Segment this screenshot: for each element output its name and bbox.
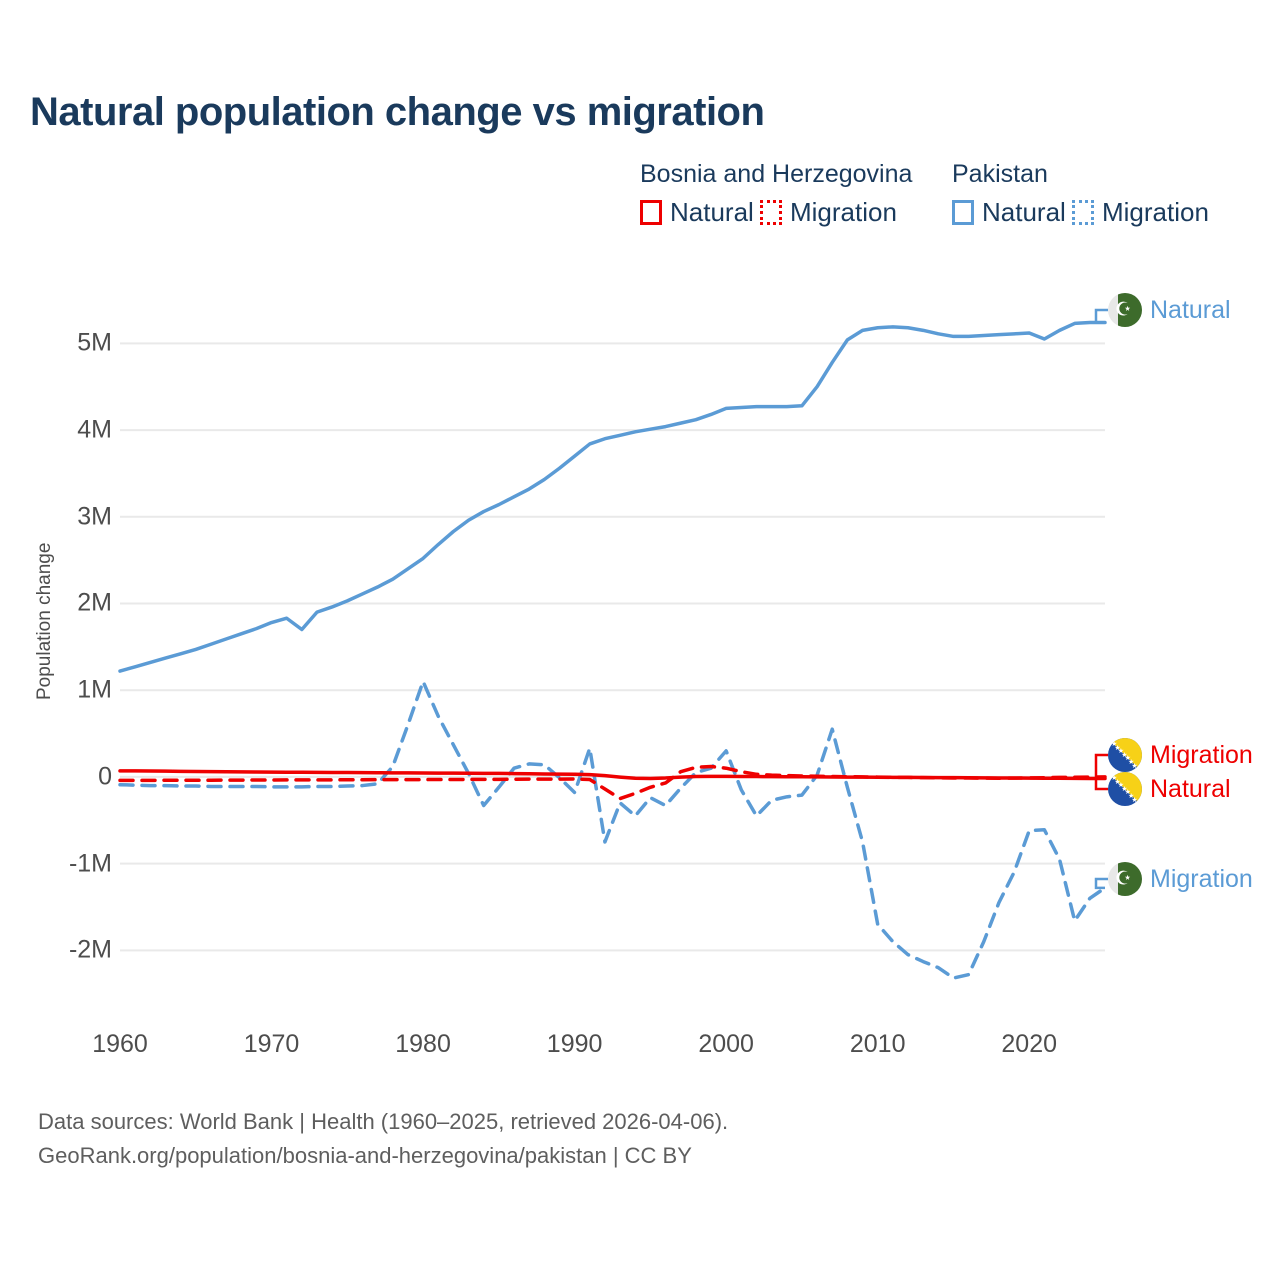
y-axis-ticks: 5M4M3M2M1M0-1M-2M [0, 0, 112, 1280]
y-tick-label: -2M [17, 936, 112, 965]
plot-area [0, 0, 1280, 1280]
footer-line-sources: Data sources: World Bank | Health (1960–… [38, 1105, 728, 1139]
series-line-pakistan-migration [120, 682, 1105, 979]
end-label-leader-line [1096, 310, 1108, 323]
x-tick-label: 1970 [244, 1030, 300, 1059]
end-label-text: Natural [1150, 775, 1231, 804]
end-label-leader-line [1096, 879, 1108, 888]
footer-line-url: GeoRank.org/population/bosnia-and-herzeg… [38, 1139, 728, 1173]
y-tick-label: 2M [17, 589, 112, 618]
end-label-text: Migration [1150, 741, 1253, 770]
end-label-text: Natural [1150, 296, 1231, 325]
x-tick-label: 2010 [850, 1030, 906, 1059]
end-label-bosnia-and-herzegovina-natural[interactable]: ★★★★★★★★Natural [1108, 772, 1231, 806]
y-tick-label: 5M [17, 329, 112, 358]
y-tick-label: 1M [17, 676, 112, 705]
pakistan-flag-icon: ☪ [1108, 862, 1142, 896]
end-label-bosnia-and-herzegovina-migration[interactable]: ★★★★★★★★Migration [1108, 738, 1253, 772]
pakistan-flag-icon: ☪ [1108, 293, 1142, 327]
series-line-pakistan-natural [120, 323, 1105, 672]
bosnia-flag-icon: ★★★★★★★★ [1108, 738, 1142, 772]
bosnia-flag-icon: ★★★★★★★★ [1108, 772, 1142, 806]
x-tick-label: 1990 [547, 1030, 603, 1059]
end-label-text: Migration [1150, 865, 1253, 894]
y-tick-label: -1M [17, 849, 112, 878]
footer-note: Data sources: World Bank | Health (1960–… [38, 1105, 728, 1173]
chart-container: Natural population change vs migration B… [0, 0, 1280, 1280]
end-label-pakistan-migration[interactable]: ☪Migration [1108, 862, 1253, 896]
y-tick-label: 4M [17, 416, 112, 445]
x-tick-label: 1960 [92, 1030, 148, 1059]
y-tick-label: 3M [17, 502, 112, 531]
x-tick-label: 2000 [698, 1030, 754, 1059]
y-tick-label: 0 [17, 762, 112, 791]
x-tick-label: 2020 [1001, 1030, 1057, 1059]
x-tick-label: 1980 [395, 1030, 451, 1059]
end-label-pakistan-natural[interactable]: ☪Natural [1108, 293, 1231, 327]
end-label-leader-line [1096, 755, 1108, 777]
